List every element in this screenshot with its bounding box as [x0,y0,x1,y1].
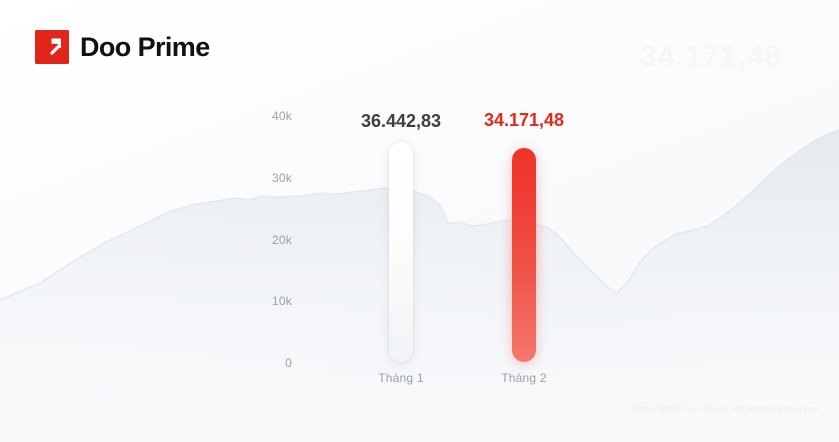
bar-group-thang-2[interactable]: 34.171,48 Tháng 2 [464,0,584,442]
bar-thang-1[interactable] [389,142,413,362]
y-axis-tick-40k: 40k [250,110,292,122]
bar-thang-2[interactable] [512,148,536,362]
y-axis-tick-10k: 10k [250,295,292,307]
y-axis: 40k 30k 20k 10k 0 [240,0,292,442]
y-axis-tick-0: 0 [250,357,292,369]
y-axis-tick-20k: 20k [250,234,292,246]
copyright-text: Copyright© Doo Prime. All Rights Reserve… [632,404,821,414]
bar-chart: 40k 30k 20k 10k 0 36.442,83 Tháng 1 34.1… [0,0,839,442]
chart-canvas: 34.171,48 Doo Prime 40k 30k 20k 10k 0 36… [0,0,839,442]
bar-group-thang-1[interactable]: 36.442,83 Tháng 1 [341,0,461,442]
y-axis-tick-30k: 30k [250,172,292,184]
bar-value-label-thang-2: 34.171,48 [414,111,634,129]
x-axis-label-thang-2: Tháng 2 [444,372,604,384]
